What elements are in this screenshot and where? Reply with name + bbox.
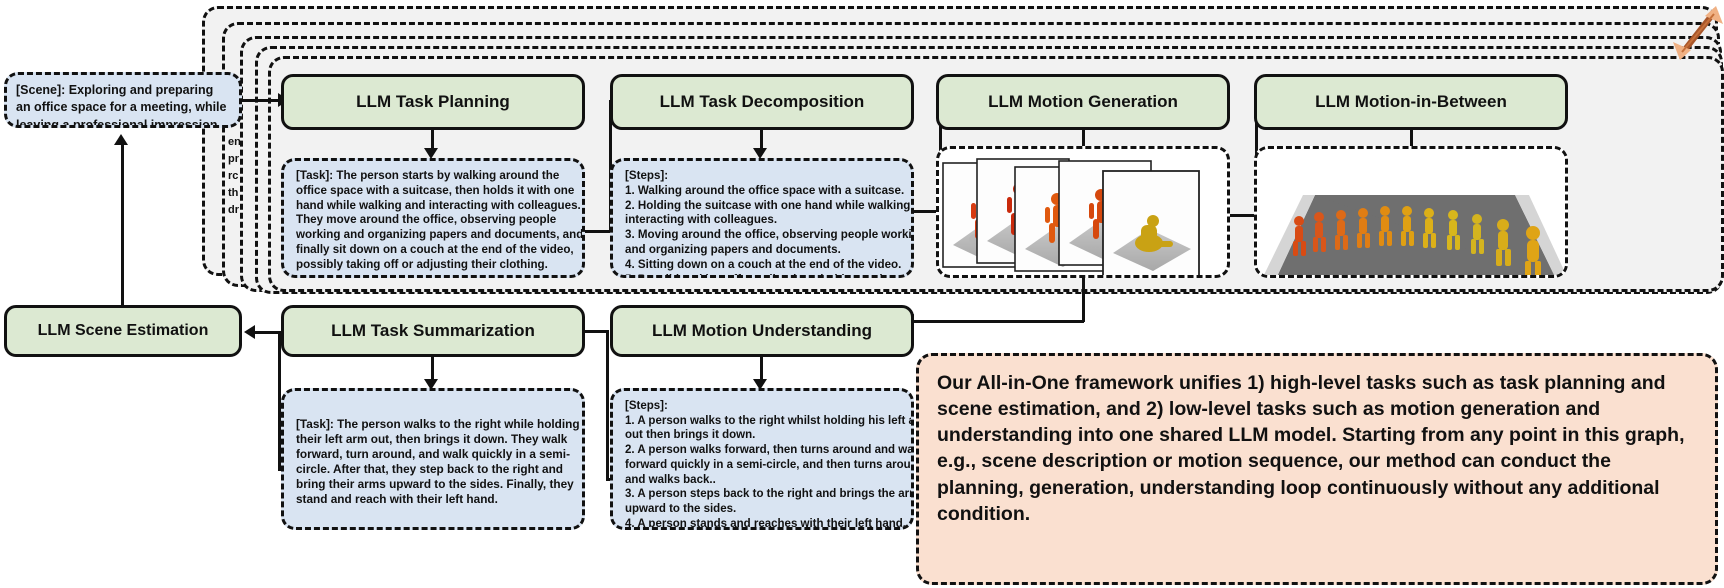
- task-planning-line: working and organizing papers and docume…: [296, 228, 572, 243]
- connector-tp-down: [431, 130, 434, 150]
- connector-scene-up-arrow: [114, 134, 128, 145]
- decomposition-line: 5. Possibly taking off or adjusting clot…: [625, 273, 901, 278]
- connector-scene-right: [242, 99, 282, 102]
- node-label: LLM Task Summarization: [331, 321, 535, 341]
- connector-mu-down: [760, 357, 763, 381]
- connector-mib-down: [1410, 130, 1413, 146]
- task-planning-output-box: [Task]: The person starts by walking aro…: [281, 158, 585, 278]
- node-label: LLM Task Decomposition: [660, 92, 865, 112]
- node-label: LLM Scene Estimation: [38, 322, 209, 340]
- summarization-line: [Task]: The person walks to the right wh…: [296, 417, 572, 432]
- decomposition-line: [Steps]:: [625, 169, 901, 184]
- connector-mu-to-ts-h2: [585, 330, 609, 333]
- understanding-line: 3. A person steps back to the right and …: [625, 487, 901, 502]
- node-llm-motion-in-between[interactable]: LLM Motion-in-Between: [1254, 74, 1568, 130]
- node-llm-task-decomposition[interactable]: LLM Task Decomposition: [610, 74, 914, 130]
- node-llm-motion-generation[interactable]: LLM Motion Generation: [936, 74, 1230, 130]
- summarization-line: forward, turn around, and walk quickly i…: [296, 447, 572, 462]
- decomposition-line: 2. Holding the suitcase with one hand wh…: [625, 199, 901, 214]
- understanding-line: 4. A person stands and reaches with thei…: [625, 517, 901, 530]
- understanding-line: 1. A person walks to the right whilst ho…: [625, 414, 901, 429]
- task-summarization-output-box: [Task]: The person walks to the right wh…: [281, 388, 585, 530]
- connector-td-down: [760, 130, 763, 150]
- connector-ts-down: [431, 357, 434, 381]
- task-planning-line: hand while walking and interacting with …: [296, 199, 572, 214]
- understanding-line: [Steps]:: [625, 399, 901, 414]
- scene-text: [Scene]: Exploring and preparing an offi…: [16, 83, 226, 128]
- motion-generation-figure: [936, 146, 1230, 278]
- task-planning-line: finally sit down on a couch at the end o…: [296, 243, 572, 258]
- connector-ts-to-se-h2: [255, 331, 281, 334]
- summarization-line: circle. After that, they step back to th…: [296, 462, 572, 477]
- connector-loop-h-left: [914, 320, 1084, 323]
- node-label: LLM Task Planning: [356, 92, 510, 112]
- scene-description-box: [Scene]: Exploring and preparing an offi…: [4, 72, 242, 128]
- task-planning-line: possibly taking off or adjusting their c…: [296, 258, 572, 273]
- motion-in-between-svg: [1257, 149, 1568, 278]
- connector-tp-to-td-h1: [585, 230, 612, 233]
- connector-mg-down: [1082, 130, 1085, 146]
- node-label: LLM Motion Generation: [988, 92, 1178, 112]
- summarization-line: bring their arms upward to the sides. Fi…: [296, 477, 572, 492]
- summarization-line: their left arm out, then brings it down.…: [296, 432, 572, 447]
- connector-loop-v-down: [1082, 278, 1085, 322]
- diagram-canvas: en pr rc th dr ex [Scene]: Exploring and…: [0, 0, 1724, 588]
- decomposition-line: 4. Sitting down on a couch at the end of…: [625, 258, 901, 273]
- node-llm-motion-understanding[interactable]: LLM Motion Understanding: [610, 305, 914, 357]
- node-label: LLM Motion-in-Between: [1315, 92, 1507, 112]
- decomposition-line: and organizing papers and documents.: [625, 243, 901, 258]
- node-llm-task-planning[interactable]: LLM Task Planning: [281, 74, 585, 130]
- connector-ts-to-se-arrow: [244, 325, 255, 339]
- understanding-line: 2. A person walks forward, then turns ar…: [625, 443, 901, 458]
- task-planning-line: [Task]: The person starts by walking aro…: [296, 169, 572, 184]
- callout-text: Our All-in-One framework unifies 1) high…: [937, 372, 1685, 525]
- motion-frames-svg: [939, 149, 1230, 278]
- motion-understanding-output-box: [Steps]: 1. A person walks to the right …: [610, 388, 914, 530]
- connector-mu-to-ts-v: [606, 330, 609, 480]
- framework-callout-box: Our All-in-One framework unifies 1) high…: [916, 353, 1718, 585]
- node-llm-scene-estimation[interactable]: LLM Scene Estimation: [4, 305, 242, 357]
- understanding-line: upward to the sides.: [625, 502, 901, 517]
- connector-scene-up: [121, 145, 124, 305]
- task-planning-line: They move around the office, observing p…: [296, 213, 572, 228]
- task-decomposition-output-box: [Steps]: 1. Walking around the office sp…: [610, 158, 914, 278]
- node-llm-task-summarization[interactable]: LLM Task Summarization: [281, 305, 585, 357]
- stack-text-fragment: en pr rc th dr ex: [228, 134, 244, 222]
- decomposition-line: interacting with colleagues.: [625, 213, 901, 228]
- task-planning-line: office space with a suitcase, then holds…: [296, 184, 572, 199]
- decomposition-line: 1. Walking around the office space with …: [625, 184, 901, 199]
- understanding-line: and walks back..: [625, 473, 901, 488]
- decomposition-line: 3. Moving around the office, observing p…: [625, 228, 901, 243]
- motion-in-between-figure: [1254, 146, 1568, 278]
- understanding-line: out then brings it down.: [625, 428, 901, 443]
- node-label: LLM Motion Understanding: [652, 321, 872, 341]
- understanding-line: forward quickly in a semi-circle, and th…: [625, 458, 901, 473]
- pencil-arrow-icon: [1672, 2, 1724, 64]
- summarization-line: stand and reach with their left hand.: [296, 492, 572, 507]
